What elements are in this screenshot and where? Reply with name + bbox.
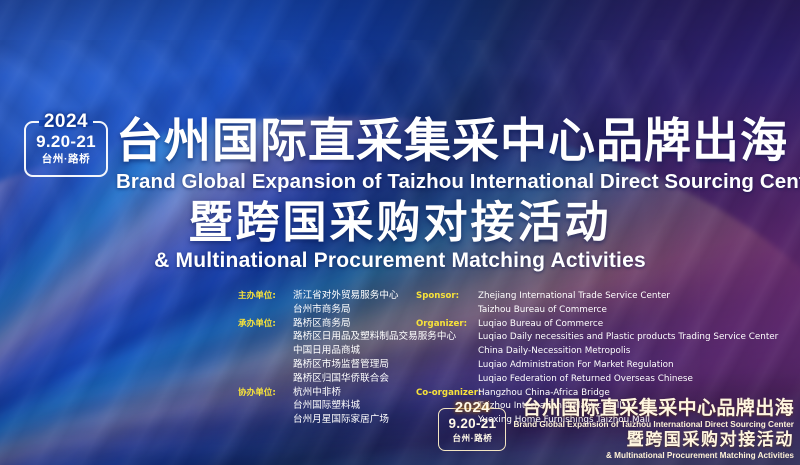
credit-row: 协办单位:杭州中非桥 (238, 387, 416, 399)
credit-row: Organizer:China Daily-Necessition Metrop… (416, 345, 716, 357)
credit-row: 主办单位:浙江省对外贸易服务中心 (238, 290, 416, 302)
headline-line1-zh: 台州国际直采集采中心品牌出海 (116, 116, 788, 168)
headline-line2-zh: 暨跨国采购对接活动 (189, 198, 612, 248)
credit-value: Luqiao Daily necessities and Plastic pro… (478, 331, 778, 343)
credit-row: Sponsor:Zhejiang International Trade Ser… (416, 290, 716, 302)
credit-row: 承办单位:中国日用品商城 (238, 345, 416, 357)
headline-line1-en: Brand Global Expansion of Taizhou Intern… (116, 170, 800, 194)
credit-row: 协办单位:台州国际塑料城 (238, 400, 416, 412)
footer-line2-zh: 暨跨国采购对接活动 (627, 430, 794, 450)
credit-row: 承办单位:路桥区商务局 (238, 318, 416, 330)
credit-value: 杭州中非桥 (293, 387, 341, 399)
credit-row: Organizer:Luqiao Federation of Returned … (416, 373, 716, 385)
badge-year: 2024 (40, 112, 92, 131)
footer-line1-en: Brand Global Expansion of Taizhou Intern… (513, 419, 794, 430)
credit-value: 路桥区市场监督管理局 (293, 359, 389, 371)
footer-badge-dates: 9.20-21 (439, 416, 505, 432)
credit-value: China Daily-Necessition Metropolis (478, 345, 630, 357)
credit-value: 台州国际塑料城 (293, 400, 360, 412)
credit-row: 协办单位:台州月星国际家居广场 (238, 414, 416, 426)
credit-value: 路桥区归国华侨联合会 (293, 373, 389, 385)
credit-row: 承办单位:路桥区市场监督管理局 (238, 359, 416, 371)
badge-dates: 9.20-21 (26, 132, 106, 152)
credit-value: Luqiao Bureau of Commerce (478, 318, 603, 330)
credit-value: Zhejiang International Trade Service Cen… (478, 290, 670, 302)
footer-badge-year: 2024 (451, 400, 494, 415)
footer-line2-en: & Multinational Procurement Matching Act… (606, 450, 794, 461)
credit-value: 台州市商务局 (293, 304, 351, 316)
credit-value: 路桥区商务局 (293, 318, 351, 330)
credit-value: 台州月星国际家居广场 (293, 414, 389, 426)
footer-lockup: 2024 9.20-21 台州·路桥 台州国际直采集采中心品牌出海 Brand … (438, 398, 794, 461)
credit-label: 主办单位: (238, 290, 293, 302)
credit-label: 承办单位: (238, 318, 293, 330)
headline-line2-en: & Multinational Procurement Matching Act… (154, 249, 646, 273)
credit-row: Organizer:Luqiao Daily necessities and P… (416, 331, 716, 343)
credit-row: 主办单位:台州市商务局 (238, 304, 416, 316)
footer-badge-location: 台州·路桥 (439, 432, 505, 444)
date-badge: 2024 9.20-21 台州·路桥 (24, 121, 108, 177)
footer-date-badge: 2024 9.20-21 台州·路桥 (438, 408, 506, 451)
credit-row: Sponsor:Taizhou Bureau of Commerce (416, 304, 716, 316)
credit-value: Luqiao Federation of Returned Overseas C… (478, 373, 693, 385)
credit-value: Taizhou Bureau of Commerce (478, 304, 607, 316)
credit-row: Organizer:Luqiao Bureau of Commerce (416, 318, 716, 330)
event-poster: 2024 9.20-21 台州·路桥 台州国际直采集采中心品牌出海 Brand … (0, 0, 800, 465)
credit-label: 协办单位: (238, 387, 293, 399)
credit-value: Luqiao Administration For Market Regulat… (478, 359, 674, 371)
footer-line1-zh: 台州国际直采集采中心品牌出海 (522, 398, 794, 419)
credit-value: 浙江省对外贸易服务中心 (293, 290, 399, 302)
credit-label: Organizer: (416, 318, 478, 330)
badge-location: 台州·路桥 (26, 152, 106, 167)
credit-row: 承办单位:路桥区日用品及塑料制品交易服务中心 (238, 331, 416, 343)
credit-label: Sponsor: (416, 290, 478, 302)
footer-text-block: 台州国际直采集采中心品牌出海 Brand Global Expansion of… (513, 398, 794, 461)
credit-value: 中国日用品商城 (293, 345, 360, 357)
credit-row: 承办单位:路桥区归国华侨联合会 (238, 373, 416, 385)
credit-row: Organizer:Luqiao Administration For Mark… (416, 359, 716, 371)
credits-column-chinese: 主办单位:浙江省对外贸易服务中心 主办单位:台州市商务局 承办单位:路桥区商务局… (238, 290, 416, 428)
